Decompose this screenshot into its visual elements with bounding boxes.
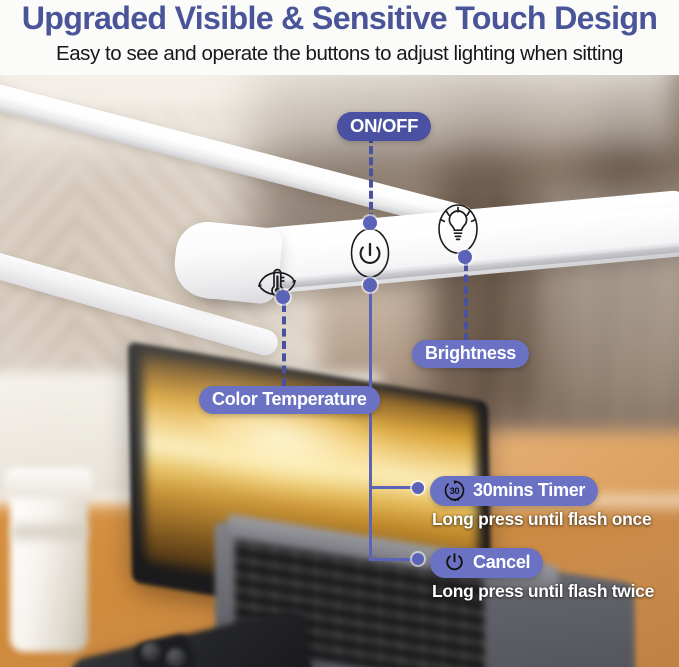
badge-onoff-label: ON/OFF (350, 115, 418, 137)
connector-brightness (464, 263, 468, 341)
tumbler-band (12, 524, 86, 540)
connector-dot-cancel (412, 553, 424, 565)
connector-dot-color-temperature (276, 290, 290, 304)
header-banner: Upgraded Visible & Sensitive Touch Desig… (0, 0, 679, 75)
badge-cancel[interactable]: Cancel (430, 548, 543, 578)
connector-power-trunk (369, 288, 372, 559)
badge-color-temperature[interactable]: Color Temperature (199, 386, 380, 414)
product-photo-scene (0, 72, 679, 667)
timer-30-icon: 30 (443, 479, 466, 502)
connector-dot-timer (412, 482, 424, 494)
badge-brightness[interactable]: Brightness (412, 340, 529, 368)
page-title: Upgraded Visible & Sensitive Touch Desig… (3, 0, 675, 38)
caption-timer: Long press until flash once (432, 509, 651, 530)
badge-brightness-label: Brightness (425, 343, 516, 364)
smartphone-lens (166, 648, 186, 667)
connector-dot-power-lower (363, 278, 377, 292)
badge-cancel-label: Cancel (473, 552, 530, 573)
caption-cancel: Long press until flash twice (432, 581, 654, 602)
connector-onoff (369, 135, 373, 221)
power-icon[interactable] (339, 222, 401, 284)
bulb-rays-icon[interactable] (427, 198, 489, 260)
badge-color-temperature-label: Color Temperature (212, 389, 367, 410)
timer-30-value: 30 (450, 486, 460, 496)
tumbler-cup (10, 472, 88, 652)
connector-dot-brightness (458, 250, 472, 264)
badge-onoff[interactable]: ON/OFF (337, 112, 431, 141)
connector-color-temperature (282, 304, 286, 386)
smartphone-lens (141, 642, 161, 662)
thermometer-rotate-icon[interactable] (246, 252, 308, 314)
power-outline-icon (443, 551, 466, 574)
badge-timer[interactable]: 30 30mins Timer (430, 476, 598, 506)
page-subtitle: Easy to see and operate the buttons to a… (0, 40, 679, 68)
connector-dot-onoff (363, 216, 377, 230)
badge-timer-label: 30mins Timer (473, 480, 585, 501)
tumbler-lid (5, 468, 93, 498)
